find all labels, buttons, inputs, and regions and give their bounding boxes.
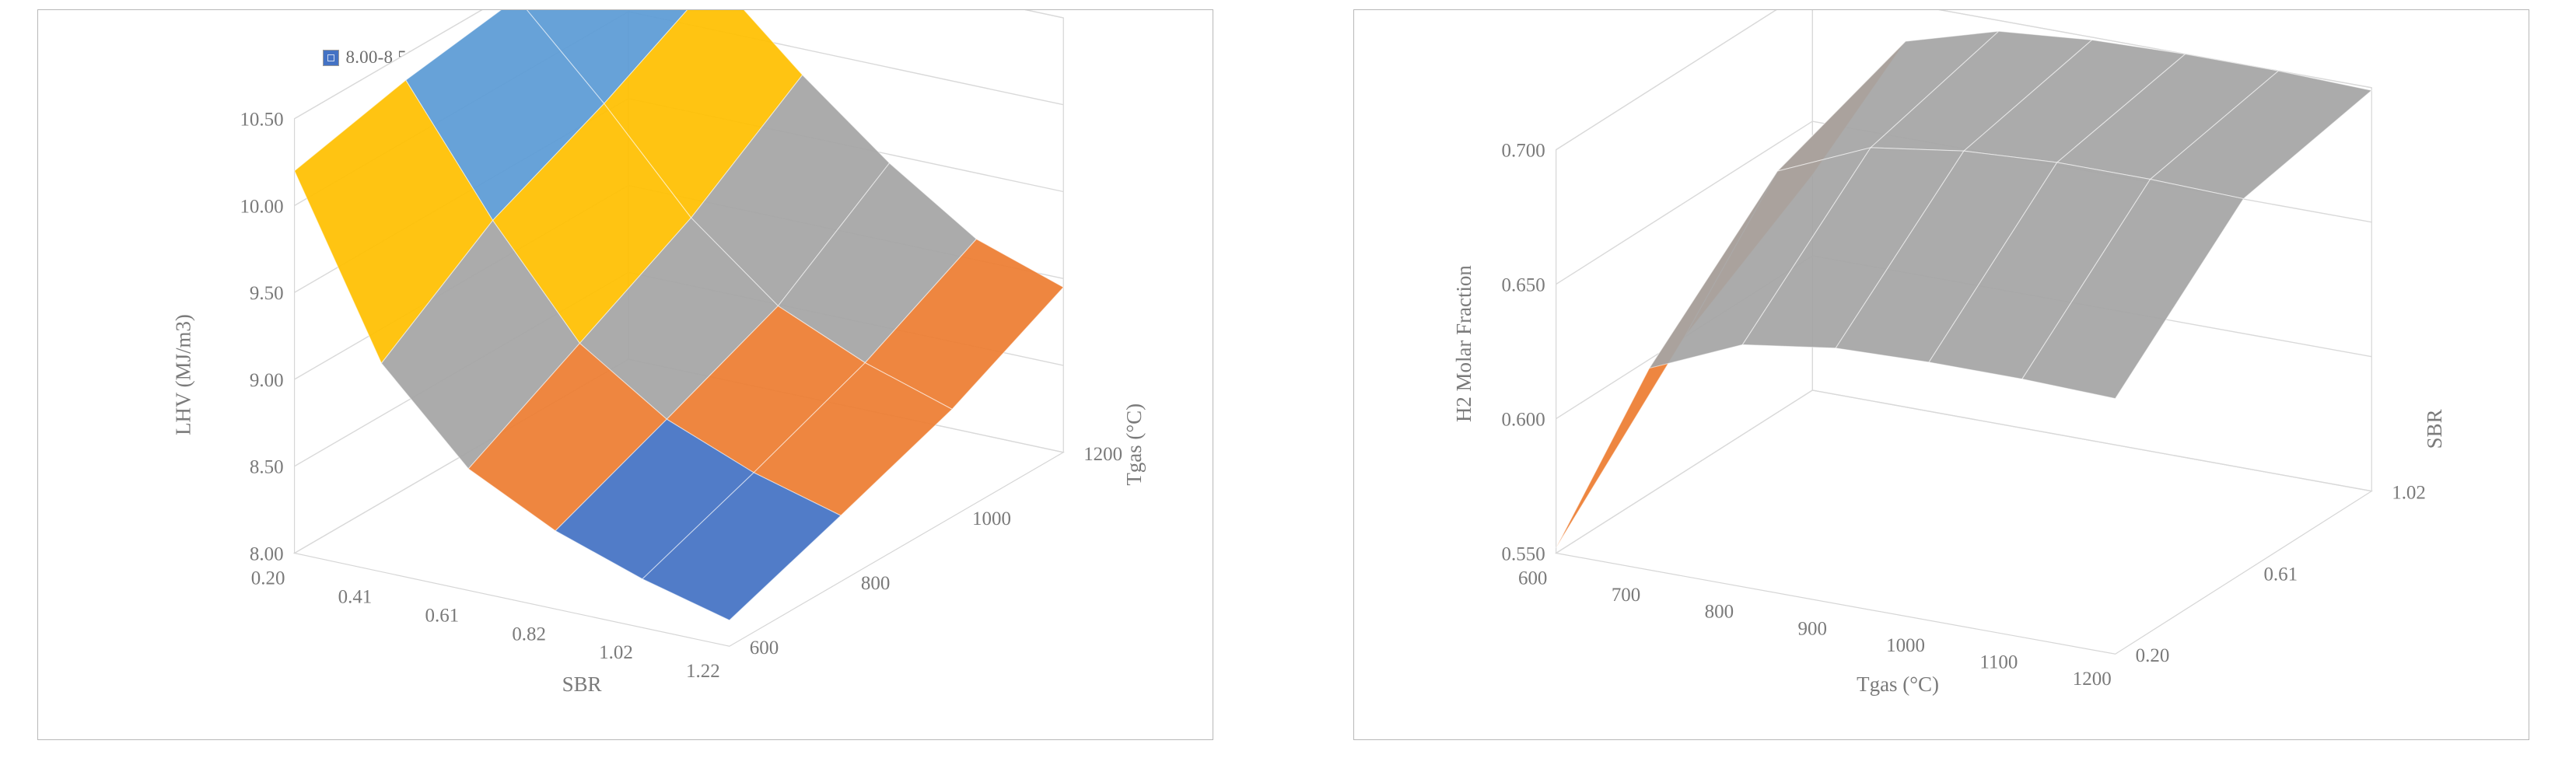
- x-tick-label: 0.41: [338, 586, 373, 607]
- x-tick-label: 700: [1612, 585, 1640, 606]
- surface-svg-lhv: 8.008.509.009.5010.0010.500.200.410.610.…: [38, 10, 1213, 739]
- z-tick-label: 0.20: [2136, 645, 2170, 666]
- y-tick-label: 8.50: [250, 457, 284, 478]
- y-axis-title: LHV (MJ/m3): [172, 314, 195, 435]
- z-tick-label: 1000: [972, 508, 1011, 529]
- y-tick-label: 9.00: [250, 370, 284, 391]
- x-tick-label: 1000: [1886, 635, 1925, 656]
- y-axis-title: H2 Molar Fraction: [1452, 265, 1475, 422]
- x-tick-label: 1.02: [599, 642, 633, 663]
- figure-root: 8.00-8.50 8.50-9.00 9.00-9.50 9.50-10.00…: [0, 0, 2576, 765]
- plot-area-lhv: 8.008.509.009.5010.0010.500.200.410.610.…: [38, 10, 1213, 739]
- y-tick-label: 0.700: [1502, 141, 1545, 162]
- surface-svg-h2: 0.5500.6000.6500.70060070080090010001100…: [1354, 10, 2529, 739]
- plot-area-h2: 0.5500.6000.6500.70060070080090010001100…: [1354, 10, 2529, 739]
- x-tick-label: 800: [1705, 602, 1734, 623]
- chart-panel-lhv: 8.00-8.50 8.50-9.00 9.00-9.50 9.50-10.00…: [37, 9, 1213, 740]
- x-axis-title: Tgas (°C): [1857, 672, 1939, 696]
- y-tick-label: 10.00: [240, 196, 283, 217]
- z-tick-label: 0.61: [2263, 564, 2298, 585]
- x-tick-label: 600: [1518, 568, 1547, 589]
- x-tick-label: 0.20: [251, 568, 285, 589]
- z-tick-label: 600: [750, 637, 779, 658]
- x-tick-label: 1200: [2073, 669, 2112, 690]
- y-tick-label: 10.50: [240, 110, 283, 131]
- z-tick-label: 800: [861, 573, 890, 594]
- x-tick-label: 0.82: [512, 624, 546, 644]
- chart-panel-h2: 0.550-0.600 0.600-0.650 0.650-0.700 0.55…: [1353, 9, 2529, 740]
- z-axis-title: Tgas (°C): [1122, 403, 1146, 486]
- x-tick-label: 900: [1798, 618, 1827, 639]
- x-tick-label: 1.22: [686, 661, 720, 682]
- y-tick-label: 8.00: [250, 544, 284, 565]
- y-tick-label: 0.600: [1502, 410, 1545, 431]
- y-tick-label: 0.550: [1502, 544, 1545, 565]
- y-tick-label: 9.50: [250, 283, 284, 304]
- z-axis-title: SBR: [2423, 409, 2446, 449]
- y-tick-label: 0.650: [1502, 275, 1545, 296]
- x-axis-title: SBR: [562, 672, 602, 696]
- x-tick-label: 1100: [1979, 652, 2018, 673]
- z-tick-label: 1.02: [2392, 483, 2426, 504]
- z-tick-label: 1200: [1083, 444, 1122, 465]
- x-tick-label: 0.61: [425, 605, 459, 626]
